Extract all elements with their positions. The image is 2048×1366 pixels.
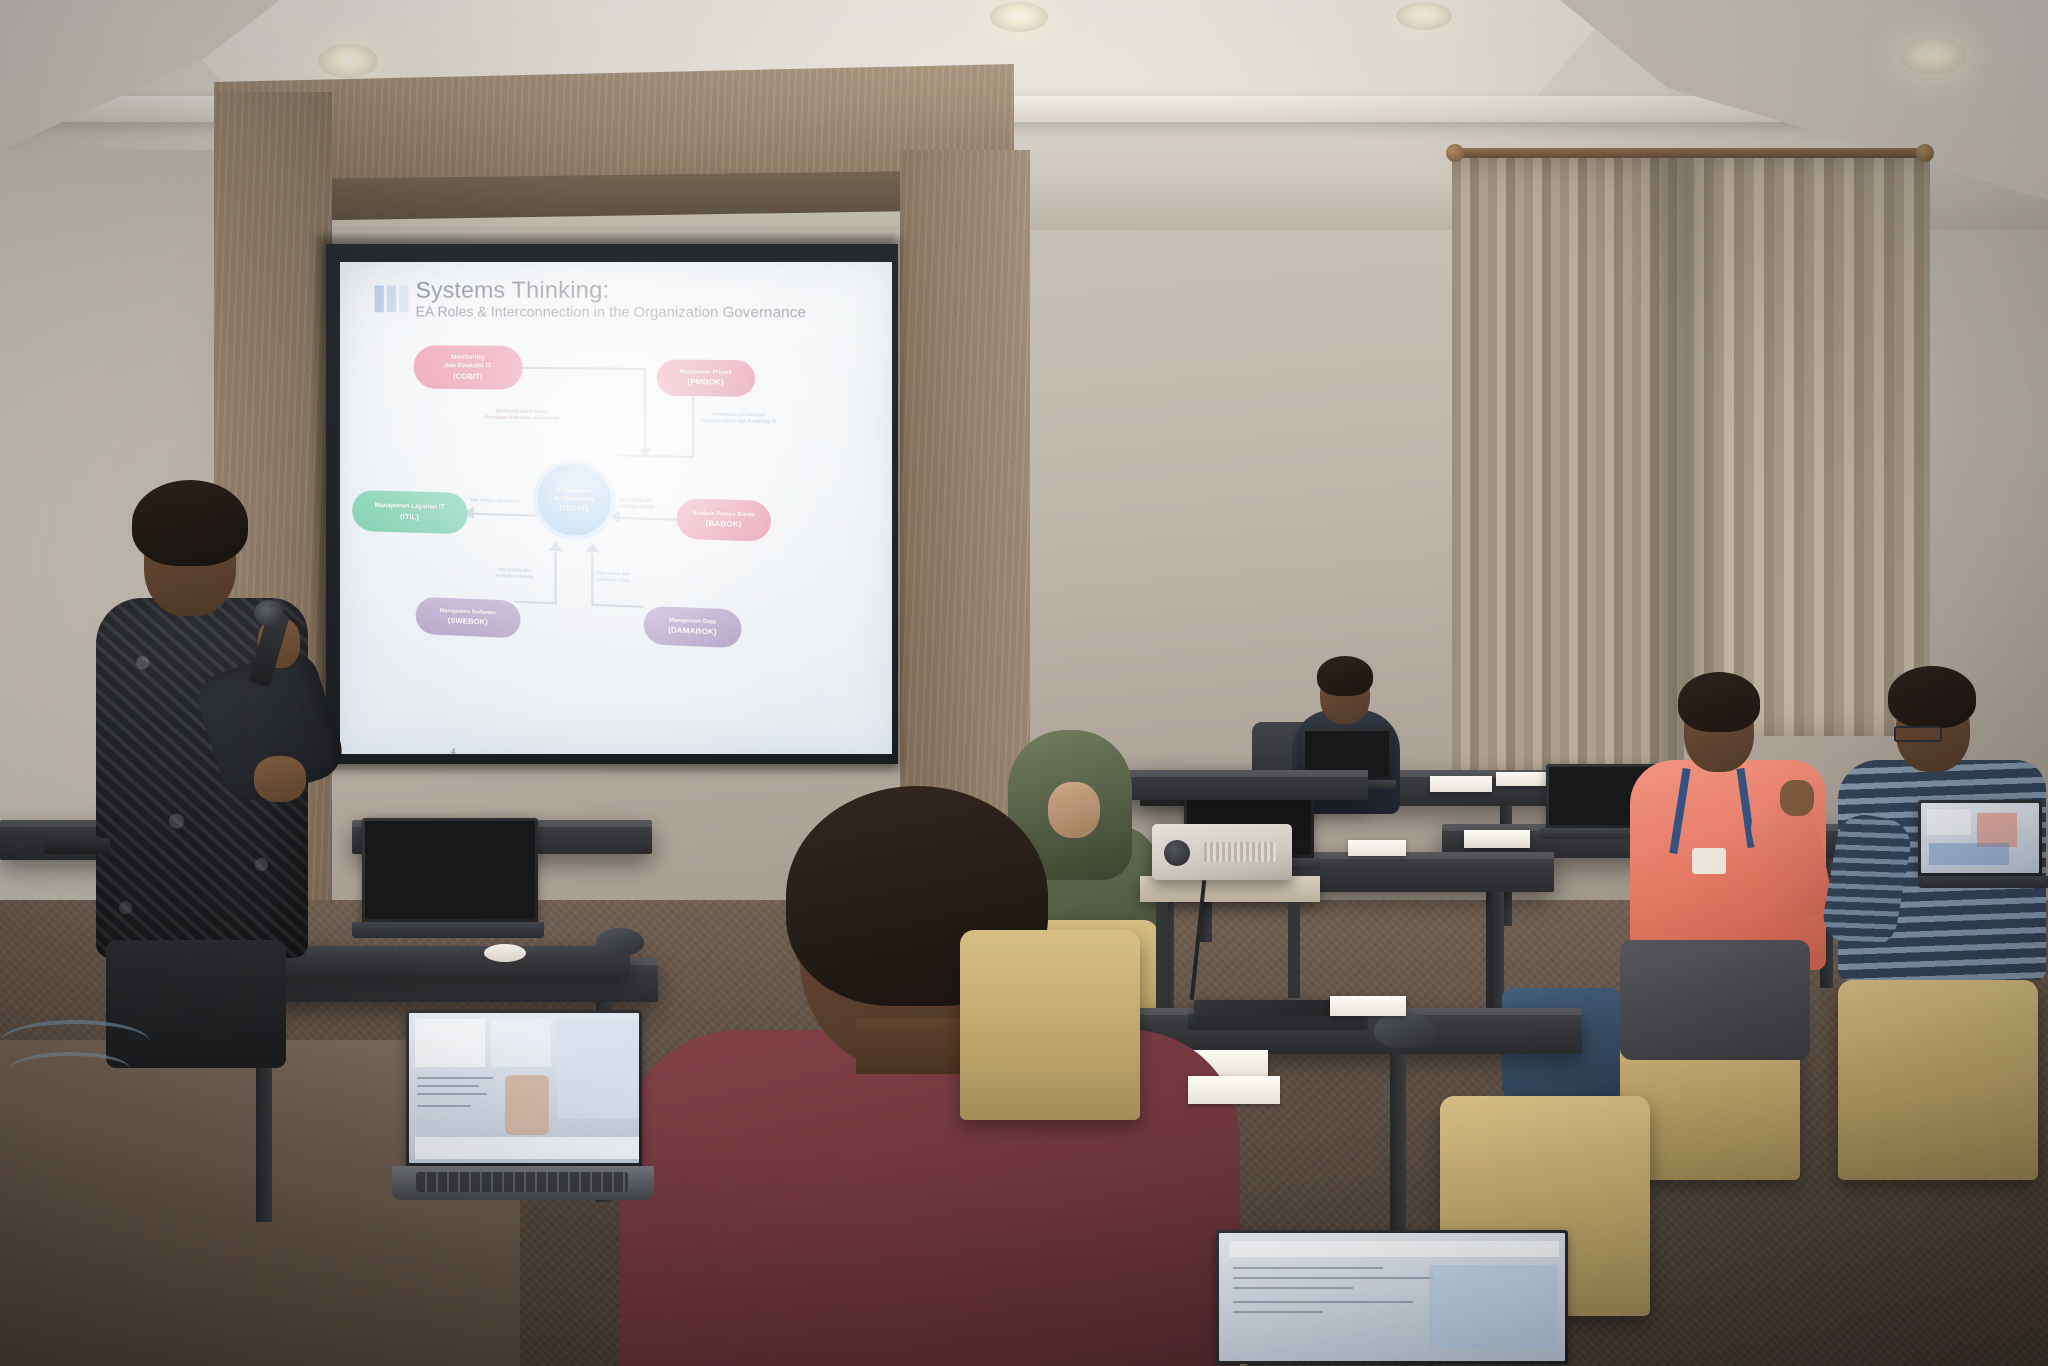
presenter-pointing-hand [254, 756, 306, 802]
edge-label-swebok: Tata Kelola dan Arsitektur Aplikasi [495, 567, 533, 581]
arrow-swebok [549, 541, 562, 551]
projection-screen: Systems Thinking: EA Roles & Interconnec… [340, 262, 892, 754]
edge-label-pmbok: Penentuan Architecture Implementation da… [701, 411, 776, 425]
hair [1678, 672, 1760, 732]
laptop-foreground-open [392, 1010, 652, 1222]
laptop-keyboard [416, 1172, 628, 1192]
chair-foreground-left [960, 930, 1140, 1120]
node-damabok-code: (DAMABOK) [668, 625, 716, 637]
id-badge [1692, 848, 1726, 874]
edge-label-damabok: Tata Kelola dan Arsitektur Data [596, 570, 630, 584]
paper-sheet [1430, 776, 1492, 792]
laptop-lid [406, 1010, 642, 1166]
node-itil: Manajemen Layanan IT (ITIL) [352, 490, 468, 534]
node-cobit-line2: dan Evaluasi IT [444, 362, 491, 370]
coffee-cup [484, 944, 526, 962]
laptop-base [352, 922, 544, 938]
curtain-rod-cap-right [1916, 144, 1934, 162]
node-core-line2: Architecture [554, 495, 595, 504]
downlight-5 [1900, 38, 1966, 74]
hair [1888, 666, 1976, 728]
node-swebok-code: (SWEBOK) [448, 616, 488, 627]
laptop-screen [1921, 803, 2039, 873]
node-itil-code: (ITIL) [400, 511, 419, 521]
downlight-3 [990, 2, 1048, 32]
arrow-damabok [586, 542, 599, 552]
edge-label-damabok-l2: Arsitektur Data [596, 576, 630, 584]
slide-content: Systems Thinking: EA Roles & Interconnec… [340, 262, 892, 754]
edge-label-itil: Tata Kelola Layanan IT [470, 497, 520, 505]
edge-core-to-itil [472, 513, 535, 517]
laptop-lid [1216, 1230, 1568, 1364]
edge-pmbok-down [692, 396, 694, 456]
node-itil-line1: Manajemen Layanan IT [375, 502, 445, 512]
node-cobit: Monitoring dan Evaluasi IT (COBIT) [414, 345, 523, 390]
edge-cobit-to-core [523, 367, 646, 370]
paper-sheet [1348, 840, 1406, 856]
cables-on-floor [10, 1052, 130, 1086]
glasses-icon [1894, 726, 1942, 742]
mouse [1374, 1012, 1436, 1048]
edge-label-cobit: Monitoring dan Evaluasi Penerapan Enterp… [485, 408, 560, 422]
edge-babok-to-core [615, 517, 679, 521]
room-photo-scene: Systems Thinking: EA Roles & Interconnec… [0, 0, 2048, 1366]
paper-sheet [1188, 1076, 1280, 1104]
node-pmbok-line1: Manajemen Proyek [680, 369, 732, 376]
edge-label-itil-l1: Tata Kelola Layanan IT [470, 497, 520, 505]
node-babok: Analisis Proses Bisnis (BABOK) [677, 498, 771, 541]
node-pmbok-code: (PMBOK) [688, 377, 724, 387]
node-cobit-code: (COBIT) [453, 371, 482, 381]
node-enterprise-architecture: Enterprise Architecture (TOGAF) [533, 459, 615, 541]
node-damabok: Manajemen Data (DAMABOK) [644, 606, 742, 649]
downlight-1 [318, 44, 378, 78]
laptop-far-right [1918, 800, 2048, 892]
downlight-4 [1396, 2, 1452, 30]
hair [132, 480, 248, 566]
slide-title: Systems Thinking: [416, 277, 610, 304]
laptop-lid [362, 818, 538, 922]
node-core-code: (TOGAF) [560, 504, 589, 513]
laptop-base [1918, 876, 2048, 888]
microphone-head [254, 600, 284, 626]
node-pmbok: Manajemen Proyek (PMBOK) [657, 359, 755, 396]
edge-label-babok: Tata Kelola dan Arsitektur Bisnis [617, 497, 653, 511]
slide-subtitle: EA Roles & Interconnection in the Organi… [416, 304, 806, 320]
laptop-bottom-edge [1216, 1230, 1576, 1366]
paper-sheet [1464, 830, 1530, 848]
table-leg [1288, 902, 1300, 998]
person-attendee-front [620, 760, 1240, 1366]
pants-salmon [1620, 940, 1810, 1060]
hair [1317, 656, 1373, 696]
curtain-rod [1452, 148, 1930, 158]
node-swebok: Manajemen Software (SWEBOK) [416, 597, 521, 639]
phone-on-desk [44, 838, 110, 854]
torso [620, 1030, 1240, 1366]
person-presenter [96, 470, 356, 1050]
laptop-screen [409, 1013, 639, 1163]
node-babok-line1: Analisis Proses Bisnis [692, 510, 754, 519]
edge-pmbok-left [615, 454, 694, 457]
edge-label-babok-l2: Arsitektur Bisnis [617, 503, 653, 510]
edge-damabok-right [591, 604, 643, 608]
laptop-left-upper [352, 818, 538, 946]
hand [1780, 780, 1814, 816]
edge-damabok-up [591, 553, 593, 604]
slide-page-marker: 4 [451, 747, 464, 754]
edge-label-cobit-l2: Penerapan Enterprise Architecture [485, 414, 560, 421]
mouse [596, 928, 644, 956]
arrow-cobit [638, 448, 651, 458]
edge-swebok-left [514, 601, 557, 604]
node-cobit-line1: Monitoring [451, 354, 485, 362]
edge-swebok-up [555, 552, 557, 602]
node-babok-code: (BABOK) [706, 518, 742, 529]
edge-label-pmbok-l2: Implementation dan Roadmap IT [701, 418, 776, 426]
laptop-screen [1219, 1233, 1565, 1361]
edge-label-swebok-l2: Arsitektur Aplikasi [495, 573, 533, 581]
slide-accent-bars [375, 285, 409, 312]
paper-sheet [1330, 996, 1406, 1016]
laptop-lid [1918, 800, 2042, 876]
curtain-rod-cap-left [1446, 144, 1464, 162]
edge-cobit-down [644, 368, 646, 451]
